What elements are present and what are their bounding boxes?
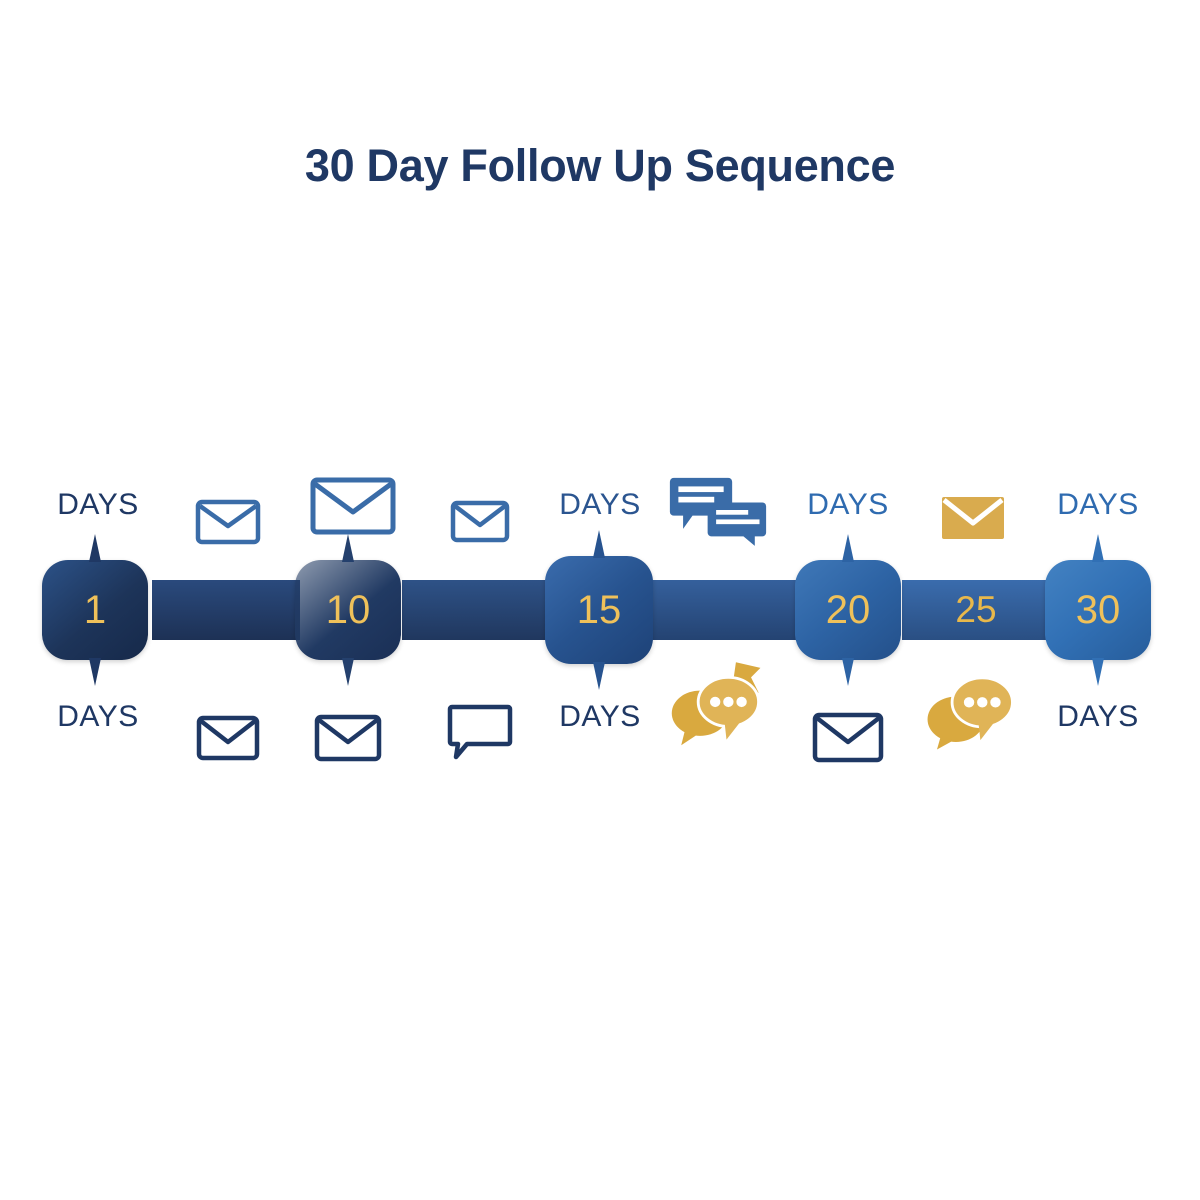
infographic-canvas: 30 Day Follow Up Sequence 25 DAYS 1 DAYS… bbox=[0, 0, 1200, 1200]
connector-bar-25: 25 bbox=[902, 580, 1050, 640]
icon-slot-top-5[interactable] bbox=[923, 478, 1023, 558]
chat-bubbles-gold-cursor-icon bbox=[668, 652, 768, 748]
node-30-number: 30 bbox=[1076, 590, 1121, 630]
timeline-node-10[interactable]: 10 bbox=[295, 560, 401, 660]
icon-slot-top-3[interactable] bbox=[430, 482, 530, 562]
timeline-node-15[interactable]: 15 bbox=[545, 556, 653, 664]
node-15-tail-down-icon bbox=[593, 662, 605, 690]
envelope-outline-icon bbox=[196, 715, 260, 761]
days-label-node-15-bottom: DAYS bbox=[530, 700, 670, 734]
icon-slot-bottom-5[interactable] bbox=[798, 698, 898, 778]
icon-slot-bottom-6[interactable] bbox=[920, 668, 1020, 748]
node-30-tail-down-icon bbox=[1092, 658, 1104, 686]
node-15-tail-up-icon bbox=[593, 530, 605, 558]
envelope-outline-icon bbox=[450, 500, 510, 544]
icon-slot-bottom-1[interactable] bbox=[178, 698, 278, 778]
connector-bar-2 bbox=[402, 580, 550, 640]
node-30-tail-up-icon bbox=[1092, 534, 1104, 562]
node-1-tail-up-icon bbox=[89, 534, 101, 562]
days-label-node-20-top: DAYS bbox=[778, 488, 918, 522]
envelope-outline-icon bbox=[812, 712, 884, 764]
connector-bar-3 bbox=[652, 580, 800, 640]
node-10-number: 10 bbox=[326, 590, 371, 630]
node-15-number: 15 bbox=[577, 590, 622, 630]
timeline-node-20[interactable]: 20 bbox=[795, 560, 901, 660]
node-20-tail-up-icon bbox=[842, 534, 854, 562]
icon-slot-bottom-2[interactable] bbox=[298, 698, 398, 778]
days-label-node-30-bottom: DAYS bbox=[1028, 700, 1168, 734]
connector-bar-1 bbox=[152, 580, 300, 640]
envelope-outline-icon bbox=[310, 476, 396, 536]
days-label-node-1-bottom: DAYS bbox=[28, 700, 168, 734]
node-20-tail-down-icon bbox=[842, 658, 854, 686]
icon-slot-top-1[interactable] bbox=[178, 482, 278, 562]
chat-bubbles-filled-icon bbox=[668, 472, 768, 548]
node-1-number: 1 bbox=[84, 590, 106, 630]
node-1-tail-down-icon bbox=[89, 658, 101, 686]
speech-bubble-outline-icon bbox=[447, 704, 513, 760]
envelope-outline-icon bbox=[314, 714, 382, 762]
chat-bubbles-gold-icon bbox=[920, 664, 1020, 752]
envelope-outline-icon bbox=[195, 498, 261, 546]
timeline: 25 DAYS 1 DAYS 10 DAYS bbox=[0, 460, 1200, 760]
node-20-number: 20 bbox=[826, 590, 871, 630]
page-title: 30 Day Follow Up Sequence bbox=[0, 140, 1200, 192]
days-label-node-30-top: DAYS bbox=[1028, 488, 1168, 522]
node-10-tail-down-icon bbox=[342, 658, 354, 686]
connector-label-25: 25 bbox=[902, 580, 1050, 640]
timeline-node-30[interactable]: 30 bbox=[1045, 560, 1151, 660]
timeline-node-1[interactable]: 1 bbox=[42, 560, 148, 660]
envelope-filled-icon bbox=[940, 494, 1006, 542]
icon-slot-bottom-4[interactable] bbox=[668, 660, 768, 740]
icon-slot-top-2[interactable] bbox=[303, 466, 403, 546]
days-label-node-1-top: DAYS bbox=[28, 488, 168, 522]
icon-slot-top-4[interactable] bbox=[668, 470, 768, 550]
days-label-node-15-top: DAYS bbox=[530, 488, 670, 522]
icon-slot-bottom-3[interactable] bbox=[430, 692, 530, 772]
